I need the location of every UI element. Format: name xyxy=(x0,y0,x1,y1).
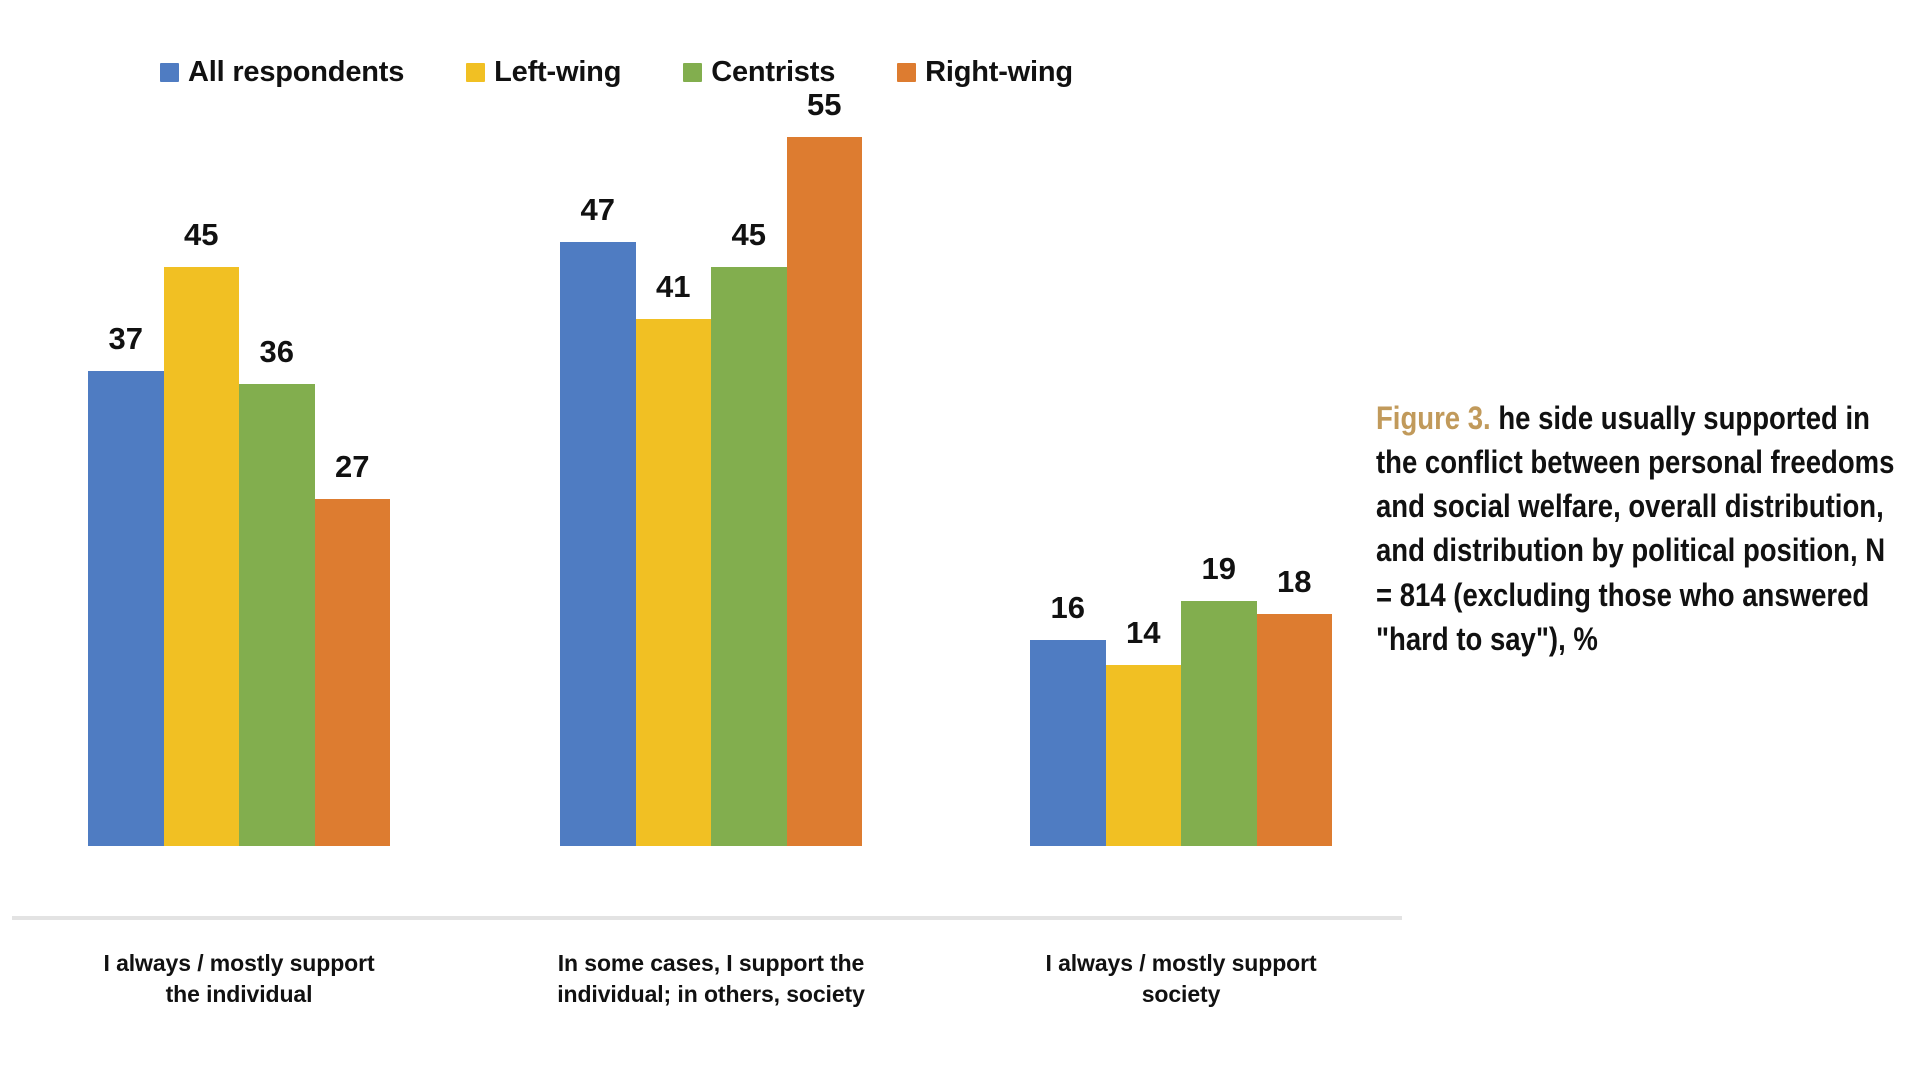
x-axis-label-line2: individual; in others, society xyxy=(530,979,892,1010)
bar-value-label: 16 xyxy=(1051,592,1085,623)
bar-rect[interactable] xyxy=(164,267,240,846)
bar-right-wing[interactable]: 27 xyxy=(315,86,391,846)
bar-all-respondents[interactable]: 47 xyxy=(560,86,636,846)
bar-rect[interactable] xyxy=(1106,665,1182,846)
bar-value-label: 19 xyxy=(1202,553,1236,584)
bar-left-wing[interactable]: 41 xyxy=(636,86,712,846)
bar-rect[interactable] xyxy=(315,499,391,846)
figure-caption-text: he side usually supported in the conflic… xyxy=(1376,400,1894,657)
bar-value-label: 55 xyxy=(807,89,841,120)
bar-rect[interactable] xyxy=(636,319,712,846)
bar-group-individual: 37 45 36 27 xyxy=(88,86,390,846)
bar-chart-plot-area: 37 45 36 27 I always / mostly support xyxy=(0,0,1420,1010)
bar-left-wing[interactable]: 14 xyxy=(1106,86,1182,846)
bar-rect[interactable] xyxy=(1030,640,1106,846)
bar-value-label: 45 xyxy=(732,219,766,250)
figure-caption: Figure 3. he side usually supported in t… xyxy=(1376,396,1896,661)
bar-left-wing[interactable]: 45 xyxy=(164,86,240,846)
figure-number: Figure 3. xyxy=(1376,400,1491,436)
figure-root: All respondents Left-wing Centrists Righ… xyxy=(0,0,1920,1080)
x-axis-label-line1: I always / mostly support xyxy=(1000,948,1362,979)
x-axis-label-line1: I always / mostly support xyxy=(58,948,420,979)
bar-rect[interactable] xyxy=(239,384,315,846)
bar-rect[interactable] xyxy=(88,371,164,846)
x-axis-label-line2: society xyxy=(1000,979,1362,1010)
bar-centrists[interactable]: 19 xyxy=(1181,86,1257,846)
x-axis-label-society: I always / mostly support society xyxy=(1000,948,1362,1009)
bar-group-bars: 47 41 45 55 xyxy=(560,86,862,846)
bar-rect[interactable] xyxy=(1257,614,1333,846)
bar-centrists[interactable]: 45 xyxy=(711,86,787,846)
bar-all-respondents[interactable]: 37 xyxy=(88,86,164,846)
bar-group-some-cases: 47 41 45 55 xyxy=(560,86,862,846)
bar-centrists[interactable]: 36 xyxy=(239,86,315,846)
bar-rect[interactable] xyxy=(560,242,636,846)
bar-group-bars: 37 45 36 27 xyxy=(88,86,390,846)
bar-right-wing[interactable]: 55 xyxy=(787,86,863,846)
x-axis-label-line1: In some cases, I support the xyxy=(530,948,892,979)
bar-value-label: 27 xyxy=(335,451,369,482)
bar-rect[interactable] xyxy=(787,137,863,846)
bar-value-label: 41 xyxy=(656,271,690,302)
x-axis-label-some-cases: In some cases, I support the individual;… xyxy=(530,948,892,1009)
bar-value-label: 45 xyxy=(184,219,218,250)
x-axis-label-individual: I always / mostly support the individual xyxy=(58,948,420,1009)
bar-right-wing[interactable]: 18 xyxy=(1257,86,1333,846)
bar-group-society: 16 14 19 18 xyxy=(1030,86,1332,846)
bar-rect[interactable] xyxy=(1181,601,1257,846)
bar-value-label: 14 xyxy=(1126,617,1160,648)
bar-value-label: 18 xyxy=(1277,566,1311,597)
bar-value-label: 36 xyxy=(260,336,294,367)
bar-value-label: 47 xyxy=(581,194,615,225)
bar-group-bars: 16 14 19 18 xyxy=(1030,86,1332,846)
x-axis-label-line2: the individual xyxy=(58,979,420,1010)
bar-all-respondents[interactable]: 16 xyxy=(1030,86,1106,846)
bar-rect[interactable] xyxy=(711,267,787,846)
x-axis-baseline xyxy=(12,916,1402,920)
bar-value-label: 37 xyxy=(109,323,143,354)
